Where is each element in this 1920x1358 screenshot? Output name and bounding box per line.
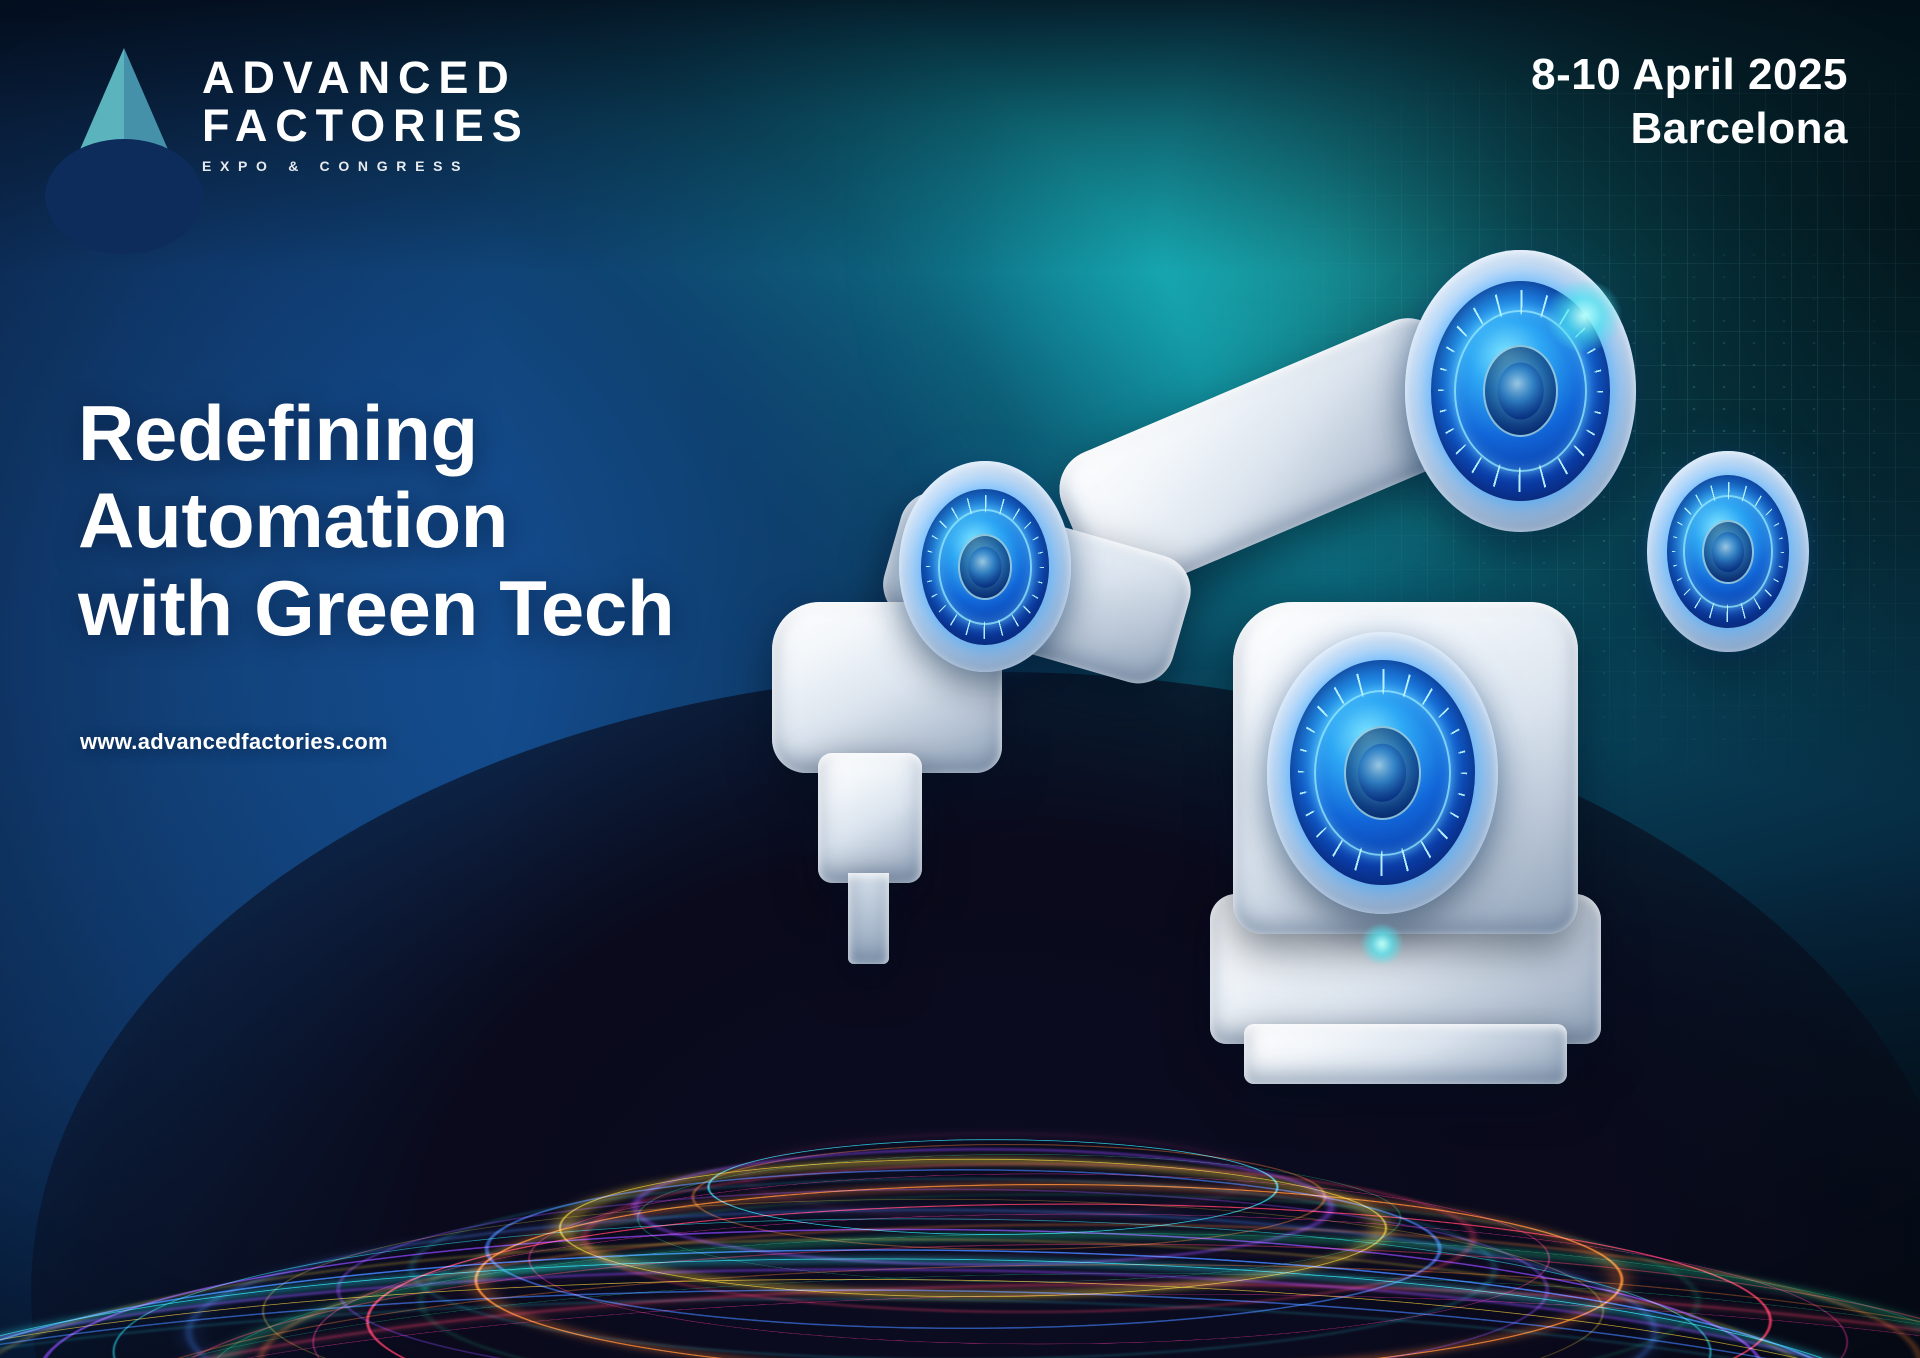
joint-hud-display-right xyxy=(1667,475,1790,628)
headline-line-1: Redefining xyxy=(78,390,674,477)
hud-tick-ring xyxy=(1672,482,1785,623)
spark-glow xyxy=(1359,924,1405,964)
headline-line-3: with Green Tech xyxy=(78,565,674,652)
robot-joint-body xyxy=(1267,632,1497,913)
hud-core xyxy=(968,547,1001,588)
logo-line-2: FACTORIES xyxy=(202,102,530,150)
triangle-arrow-mark-icon xyxy=(72,48,176,168)
joint-hud-display-elbow xyxy=(921,489,1049,645)
headline-line-2: Automation xyxy=(78,477,674,564)
hud-core xyxy=(1497,363,1544,420)
robot-joint-right-disc xyxy=(1647,451,1808,652)
robot-joint-elbow xyxy=(899,461,1072,672)
website-url[interactable]: www.advancedfactories.com xyxy=(80,729,388,755)
logo-subtitle: EXPO & CONGRESS xyxy=(202,158,530,174)
robot-base-plinth xyxy=(1244,1024,1567,1084)
brand-logo[interactable]: ADVANCED FACTORIES EXPO & CONGRESS xyxy=(72,48,530,174)
hud-core xyxy=(1358,744,1406,803)
hud-tick-ring xyxy=(1298,669,1468,876)
page-title: Redefining Automation with Green Tech xyxy=(78,390,674,652)
logo-line-1: ADVANCED xyxy=(202,54,530,102)
robot-arm-illustration xyxy=(749,190,1901,1195)
robot-tool-body xyxy=(818,753,922,884)
event-dates: 8-10 April 2025 xyxy=(1531,48,1848,102)
event-location: Barcelona xyxy=(1531,102,1848,156)
spark-glow xyxy=(1544,281,1625,351)
promo-banner: ADVANCED FACTORIES EXPO & CONGRESS 8-10 … xyxy=(0,0,1920,1358)
logo-wordmark: ADVANCED FACTORIES EXPO & CONGRESS xyxy=(202,48,530,174)
hud-tick-ring xyxy=(926,495,1044,639)
robot-tool-tip xyxy=(848,873,889,963)
hud-core xyxy=(1712,532,1744,572)
event-date-location: 8-10 April 2025 Barcelona xyxy=(1531,48,1848,155)
joint-hud-display-body xyxy=(1290,660,1474,885)
mark-base-curve xyxy=(45,139,203,254)
